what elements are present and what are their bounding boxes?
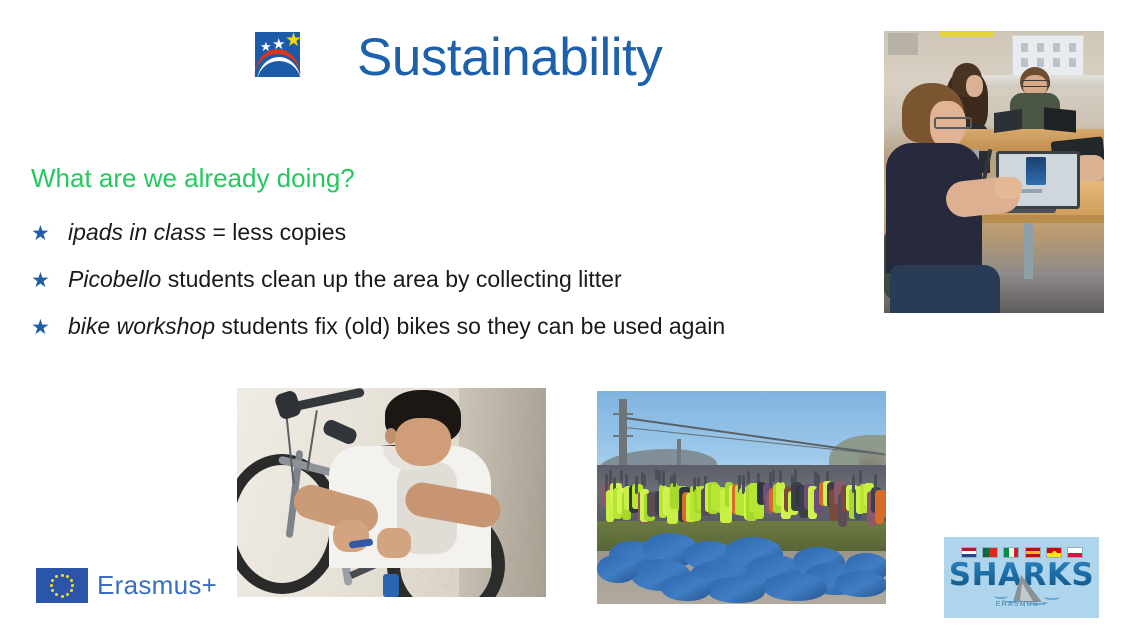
list-item-text: = less copies xyxy=(206,219,346,245)
classroom-ipads-photo xyxy=(884,31,1104,313)
page-title: Sustainability xyxy=(357,27,662,88)
eu-star-icon xyxy=(55,593,58,596)
raised-arm xyxy=(643,474,646,488)
rubbish-bag xyxy=(661,575,711,601)
eu-star-icon xyxy=(61,595,64,598)
raised-arm xyxy=(673,473,676,487)
erasmus-wordmark: Erasmus+ xyxy=(97,570,217,601)
eu-star-icon xyxy=(51,579,54,582)
section-heading: What are we already doing? xyxy=(31,163,355,194)
eu-star-icon xyxy=(70,579,73,582)
eu-star-icon xyxy=(66,593,69,596)
raised-arm xyxy=(874,474,877,490)
erasmus-plus-logo: Erasmus+ xyxy=(36,568,217,603)
eu-star-icon xyxy=(66,575,69,578)
list-item-emphasis: ipads in class xyxy=(68,219,206,245)
sharks-subtitle: ERASMUS + xyxy=(944,601,1099,608)
star-bullet-icon: ★ xyxy=(31,317,68,338)
raised-arm xyxy=(826,471,829,481)
rubbish-bag xyxy=(707,577,765,603)
sharks-project-logo: SHARKS ERASMUS + xyxy=(944,537,1099,618)
list-item-emphasis: bike workshop xyxy=(68,313,215,339)
eu-flag-icon xyxy=(36,568,88,603)
list-item-text: students fix (old) bikes so they can be … xyxy=(215,313,725,339)
raised-arm xyxy=(747,471,750,483)
list-item-text: students clean up the area by collecting… xyxy=(161,266,621,292)
eu-star-icon xyxy=(51,589,54,592)
crowd-person xyxy=(880,490,886,518)
list-item: ★ bike workshop students fix (old) bikes… xyxy=(31,313,901,340)
raised-arm xyxy=(772,470,775,482)
slide-canvas: ★ ★ ★ Sustainability What are we already… xyxy=(0,0,1145,638)
bullet-list: ★ ipads in class = less copies ★ Picobel… xyxy=(31,219,901,360)
list-item: ★ Picobello students clean up the area b… xyxy=(31,266,901,293)
flag-band xyxy=(989,548,997,557)
eu-star-icon xyxy=(70,589,73,592)
flag-band xyxy=(1014,548,1019,557)
eu-star-icon xyxy=(50,584,53,587)
flag-emblem xyxy=(1052,551,1057,556)
eu-star-icon xyxy=(55,575,58,578)
eu-education-stars-logo-icon: ★ ★ ★ xyxy=(251,29,307,85)
raised-arm xyxy=(779,470,782,483)
eu-star-icon xyxy=(71,584,74,587)
list-item: ★ ipads in class = less copies xyxy=(31,219,901,246)
star-bullet-icon: ★ xyxy=(31,270,68,291)
list-item-emphasis: Picobello xyxy=(68,266,161,292)
rubbish-bag xyxy=(763,573,827,601)
raised-arm xyxy=(620,470,623,484)
raised-arm xyxy=(662,470,665,486)
litter-collection-photo xyxy=(597,391,886,604)
eu-star-icon xyxy=(61,574,64,577)
star-bullet-icon: ★ xyxy=(31,223,68,244)
slide-title-block: ★ ★ ★ Sustainability xyxy=(251,22,662,92)
rubbish-bag xyxy=(835,571,886,597)
raised-arm xyxy=(859,470,862,482)
rubbish-bag xyxy=(597,555,637,583)
bike-workshop-photo xyxy=(237,388,546,597)
